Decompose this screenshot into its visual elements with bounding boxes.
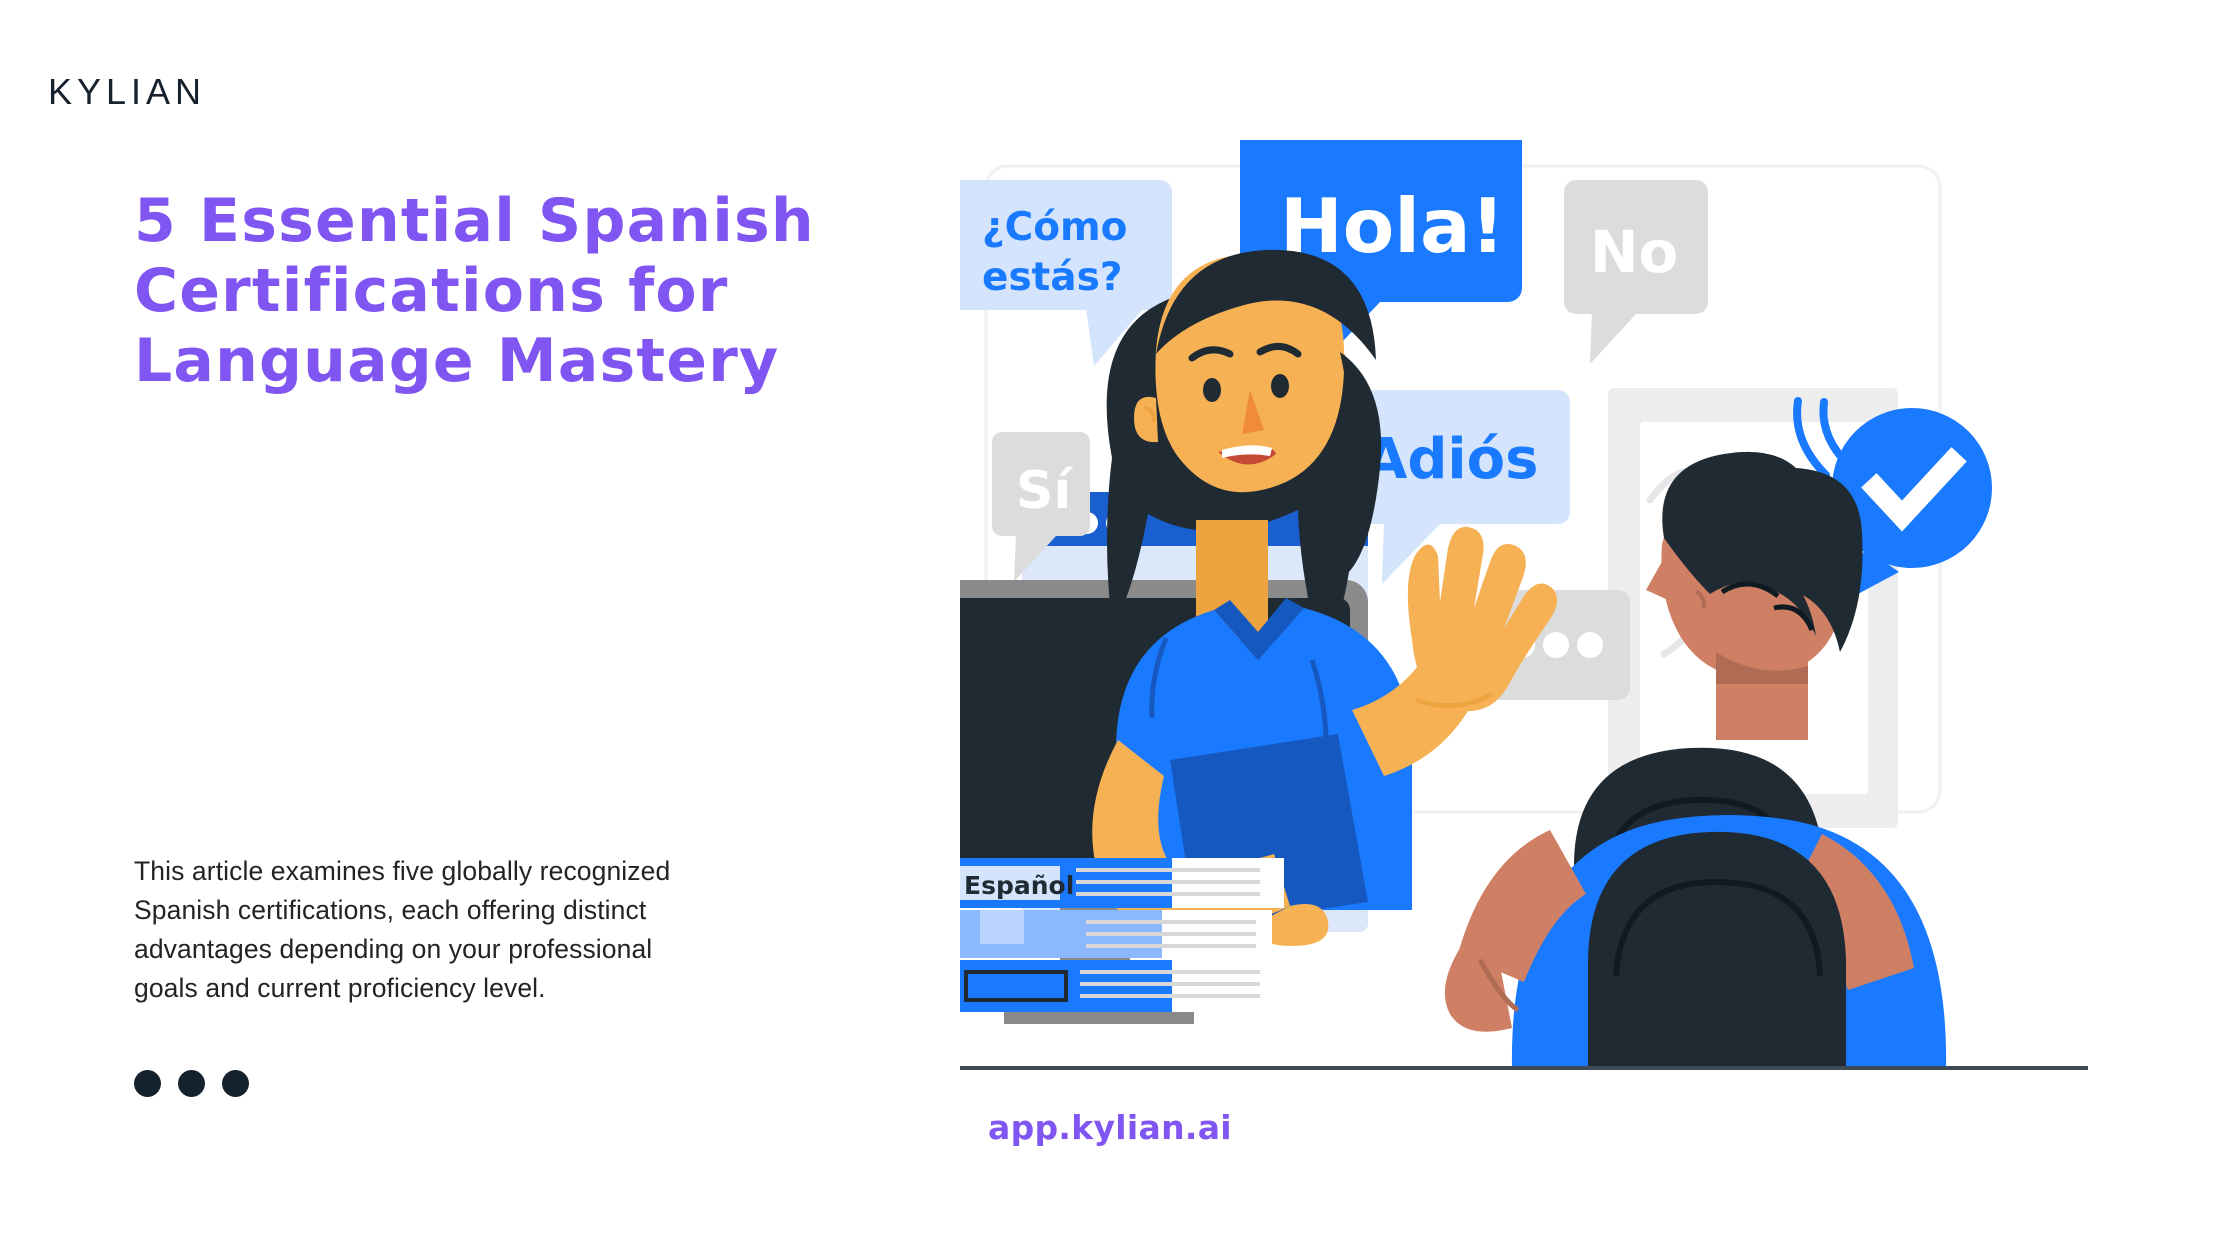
brand-logo: KYLIAN [48,74,206,110]
ground-line [960,1066,2088,1070]
dot-icon [222,1070,249,1097]
site-url[interactable]: app.kylian.ai [988,1108,1232,1147]
svg-text:¿Cómo: ¿Cómo [982,205,1127,250]
decorative-dots [134,1070,249,1097]
office-chair-front [1588,832,1846,1070]
spanish-conversation-illustration: ¿Cómo estás? Hola! No [960,140,2090,1070]
svg-text:Adiós: Adiós [1364,427,1538,492]
book-stack: Español [960,858,1288,1012]
svg-text:estás?: estás? [982,255,1122,300]
poster-canvas: KYLIAN 5 Essential Spanish Certification… [0,0,2240,1260]
typing-dot-icon [1543,632,1569,658]
svg-text:No: No [1590,218,1678,286]
dot-icon [134,1070,161,1097]
svg-text:Sí: Sí [1016,461,1074,521]
article-summary: This article examines five globally reco… [134,852,834,1008]
page-title: 5 Essential Spanish Certifications for L… [134,186,924,397]
typing-dot-icon [1577,632,1603,658]
dot-icon [178,1070,205,1097]
book-label: Español [964,871,1074,900]
